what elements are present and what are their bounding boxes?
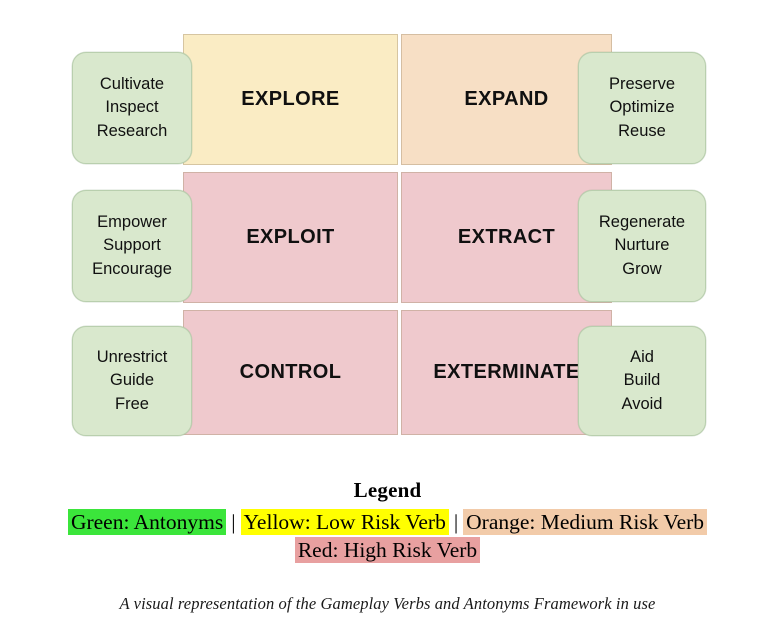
legend-row-2: Red: High Risk Verb bbox=[0, 536, 775, 564]
antonym-box-expand: Preserve Optimize Reuse bbox=[578, 52, 706, 164]
legend-item-yellow: Yellow: Low Risk Verb bbox=[241, 509, 449, 535]
antonym-text-exterminate: Aid Build Avoid bbox=[622, 346, 663, 416]
verb-label-expand: EXPAND bbox=[464, 88, 548, 111]
verb-cell-explore: EXPLORE bbox=[183, 34, 398, 165]
antonym-text-exploit: Empower Support Encourage bbox=[92, 211, 172, 281]
verb-cell-control: CONTROL bbox=[183, 310, 398, 435]
gameplay-verbs-matrix: EXPLORE EXPAND EXPLOIT EXTRACT CONTROL E… bbox=[0, 0, 775, 470]
antonym-text-control: Unrestrict Guide Free bbox=[97, 346, 168, 416]
verb-label-control: CONTROL bbox=[240, 361, 342, 384]
verb-label-exterminate: EXTERMINATE bbox=[433, 361, 579, 384]
antonym-box-exploit: Empower Support Encourage bbox=[72, 190, 192, 302]
verb-cell-exploit: EXPLOIT bbox=[183, 172, 398, 303]
legend-item-green: Green: Antonyms bbox=[68, 509, 226, 535]
legend-row-1: Green: Antonyms|Yellow: Low Risk Verb|Or… bbox=[0, 508, 775, 536]
legend-title: Legend bbox=[0, 478, 775, 503]
antonym-box-extract: Regenerate Nurture Grow bbox=[578, 190, 706, 302]
antonym-text-extract: Regenerate Nurture Grow bbox=[599, 211, 685, 281]
legend-separator-1: | bbox=[226, 510, 240, 534]
verb-label-extract: EXTRACT bbox=[458, 226, 555, 249]
legend-item-orange: Orange: Medium Risk Verb bbox=[463, 509, 707, 535]
figure-caption: A visual representation of the Gameplay … bbox=[0, 594, 775, 614]
verb-label-explore: EXPLORE bbox=[241, 88, 339, 111]
legend: Legend Green: Antonyms|Yellow: Low Risk … bbox=[0, 478, 775, 565]
legend-item-red: Red: High Risk Verb bbox=[295, 537, 480, 563]
antonym-text-expand: Preserve Optimize Reuse bbox=[609, 73, 675, 143]
antonym-box-exterminate: Aid Build Avoid bbox=[578, 326, 706, 436]
legend-separator-2: | bbox=[449, 510, 463, 534]
verb-label-exploit: EXPLOIT bbox=[246, 226, 334, 249]
antonym-text-explore: Cultivate Inspect Research bbox=[97, 73, 168, 143]
antonym-box-control: Unrestrict Guide Free bbox=[72, 326, 192, 436]
antonym-box-explore: Cultivate Inspect Research bbox=[72, 52, 192, 164]
